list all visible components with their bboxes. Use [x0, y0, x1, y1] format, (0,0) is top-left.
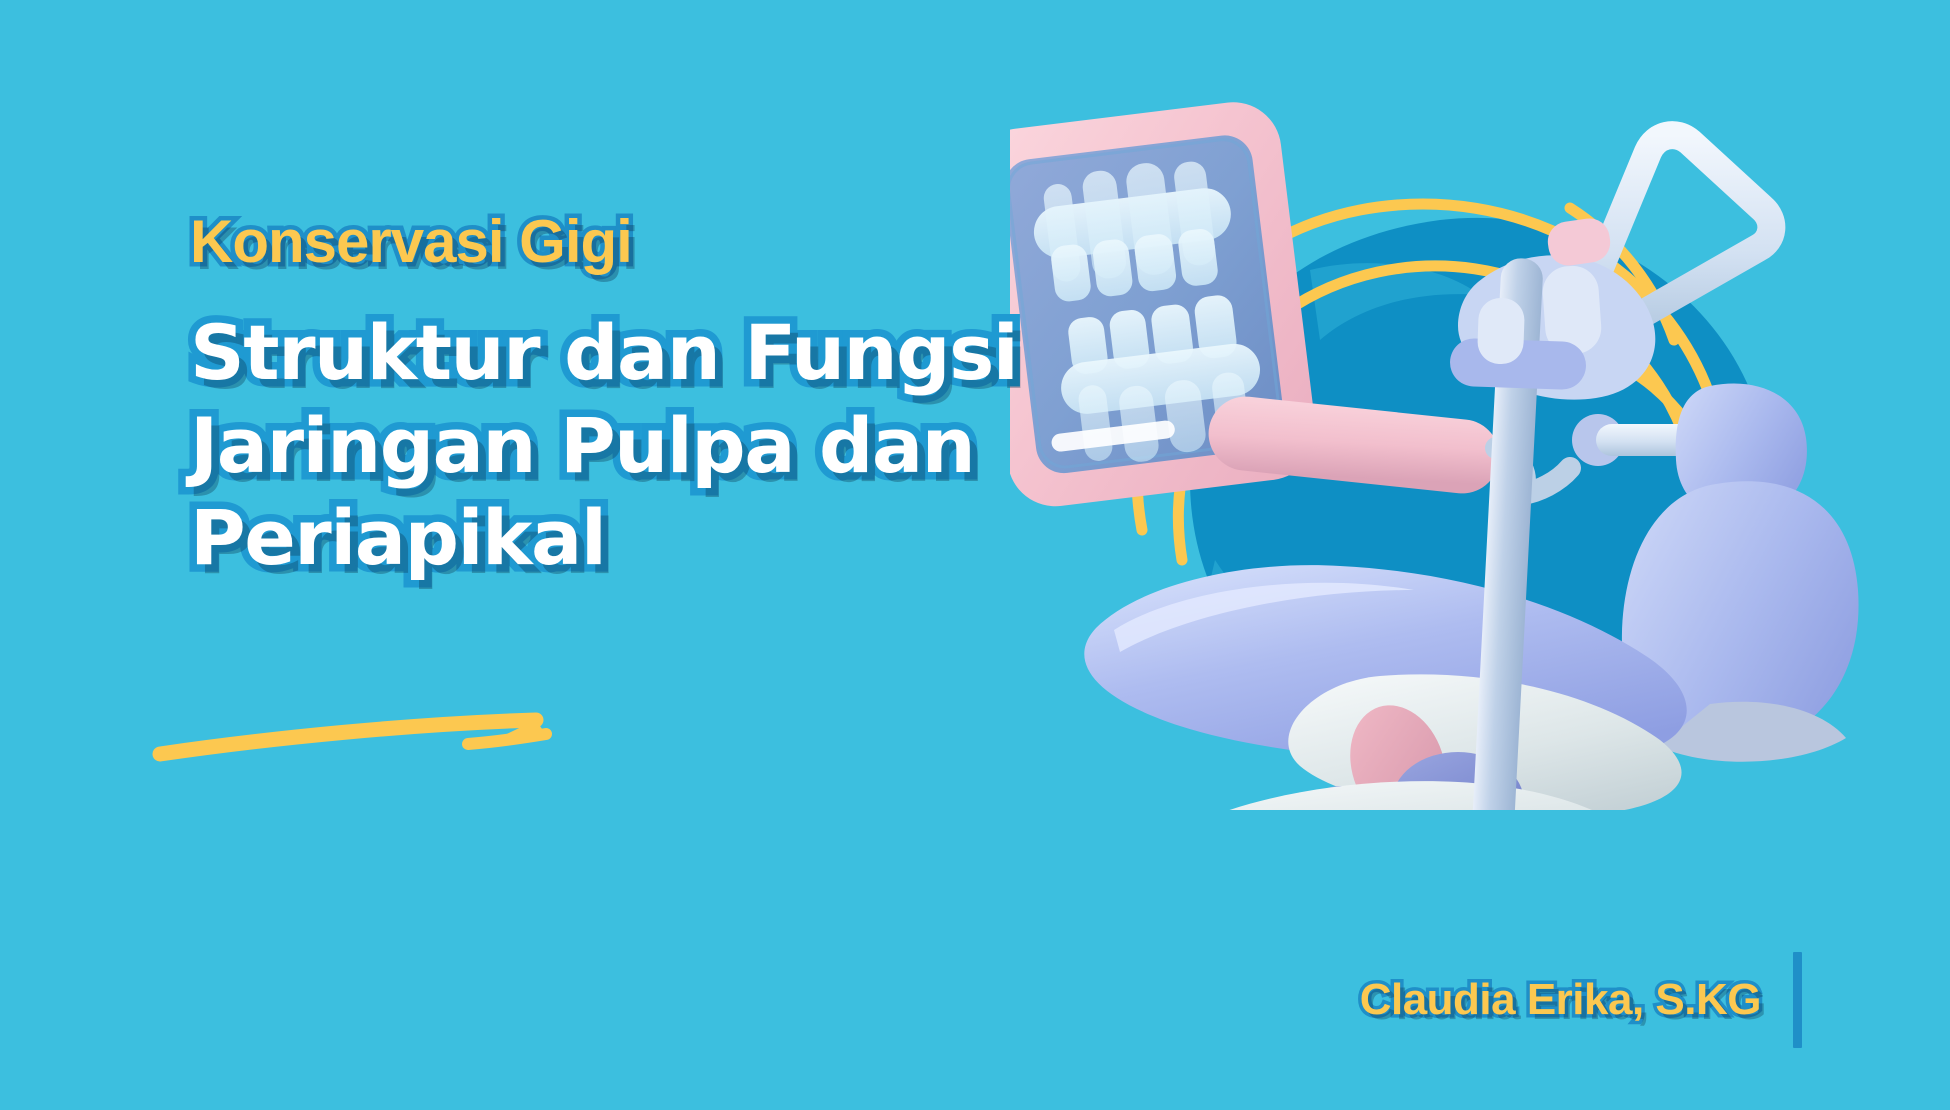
author-name: Claudia Erika, S.KG [1360, 975, 1761, 1025]
title-block: Konservasi Gigi Struktur dan Fungsi Jari… [190, 210, 1070, 585]
author-footer: Claudia Erika, S.KG [1360, 952, 1802, 1048]
presentation-slide: Konservasi Gigi Struktur dan Fungsi Jari… [0, 0, 1950, 1110]
dental-chair-illustration [1010, 90, 1910, 810]
eyebrow-label: Konservasi Gigi [190, 210, 1070, 273]
title-line-3: Periapikal [190, 492, 1070, 585]
yellow-arrow-underline-icon [150, 698, 570, 778]
page-title: Struktur dan Fungsi Jaringan Pulpa dan P… [190, 307, 1070, 585]
title-line-1: Struktur dan Fungsi [190, 307, 1070, 400]
title-line-2: Jaringan Pulpa dan [190, 400, 1070, 493]
vertical-divider [1793, 952, 1802, 1048]
